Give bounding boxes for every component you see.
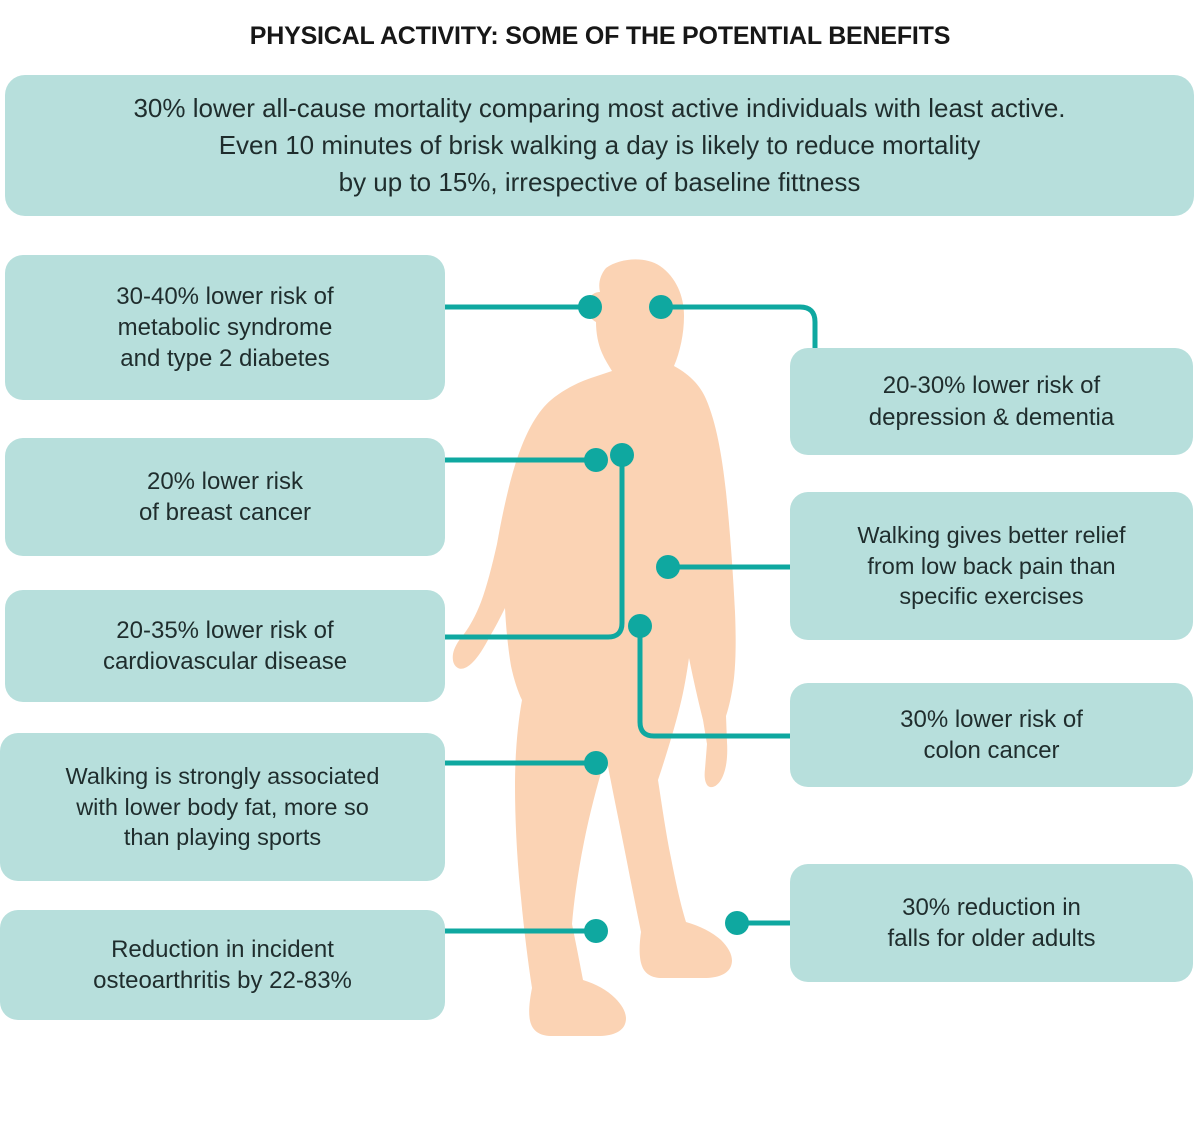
benefit-text-cardiovascular: 20-35% lower risk of cardiovascular dise… bbox=[5, 615, 445, 677]
benefit-box-cardiovascular: 20-35% lower risk of cardiovascular dise… bbox=[5, 590, 445, 702]
benefit-text-metabolic: 30-40% lower risk of metabolic syndrome … bbox=[5, 281, 445, 375]
benefit-box-low-back-pain: Walking gives better relief from low bac… bbox=[790, 492, 1193, 640]
benefit-box-body-fat: Walking is strongly associated with lowe… bbox=[0, 733, 445, 881]
connector-depression bbox=[661, 307, 815, 348]
dot-lower-back bbox=[656, 555, 680, 579]
dot-abdomen bbox=[628, 614, 652, 638]
benefit-text-low-back-pain: Walking gives better relief from low bac… bbox=[790, 520, 1193, 612]
benefit-text-breast-cancer: 20% lower risk of breast cancer bbox=[5, 466, 445, 528]
benefit-text-osteoarthritis: Reduction in incident osteoarthritis by … bbox=[0, 934, 445, 996]
dot-chest-center bbox=[610, 443, 634, 467]
infographic-canvas: PHYSICAL ACTIVITY: SOME OF THE POTENTIAL… bbox=[0, 0, 1200, 1139]
benefit-text-body-fat: Walking is strongly associated with lowe… bbox=[0, 761, 445, 853]
benefit-box-osteoarthritis: Reduction in incident osteoarthritis by … bbox=[0, 910, 445, 1020]
benefit-box-colon-cancer: 30% lower risk of colon cancer bbox=[790, 683, 1193, 787]
benefit-text-falls: 30% reduction in falls for older adults bbox=[790, 892, 1193, 954]
benefit-box-depression-dementia: 20-30% lower risk of depression & dement… bbox=[790, 348, 1193, 455]
dot-rear-foot bbox=[725, 911, 749, 935]
dot-head-right bbox=[649, 295, 673, 319]
dot-ankle bbox=[584, 919, 608, 943]
benefit-text-depression-dementia: 20-30% lower risk of depression & dement… bbox=[790, 370, 1193, 432]
benefit-box-falls: 30% reduction in falls for older adults bbox=[790, 864, 1193, 982]
benefit-box-metabolic: 30-40% lower risk of metabolic syndrome … bbox=[5, 255, 445, 400]
dot-thigh bbox=[584, 751, 608, 775]
dot-chest-left bbox=[584, 448, 608, 472]
benefit-text-colon-cancer: 30% lower risk of colon cancer bbox=[790, 704, 1193, 766]
dot-head-left bbox=[578, 295, 602, 319]
benefit-box-breast-cancer: 20% lower risk of breast cancer bbox=[5, 438, 445, 556]
